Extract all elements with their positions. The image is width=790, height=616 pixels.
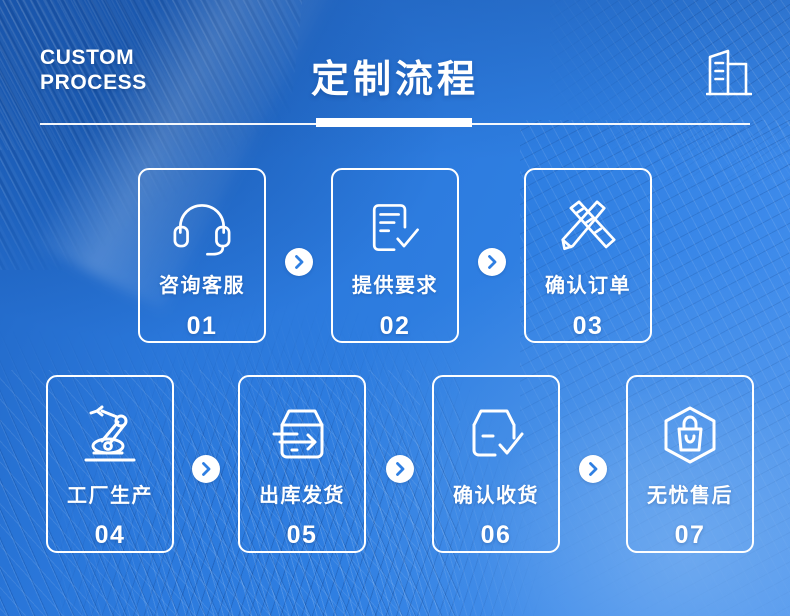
step-card-4[interactable]: 工厂生产 04 xyxy=(46,375,174,553)
connector-arrow-1 xyxy=(285,248,313,276)
step-number-2: 02 xyxy=(380,312,411,341)
step-number-7: 07 xyxy=(675,521,706,550)
process-infographic: CUSTOM PROCESS 定制流程 xyxy=(0,0,790,616)
chevron-right-icon xyxy=(586,462,600,476)
box-arrow-icon xyxy=(270,405,334,465)
chevron-right-icon xyxy=(292,255,306,269)
page-title: 定制流程 xyxy=(0,48,790,103)
connector-arrow-4 xyxy=(386,455,414,483)
step-title-6: 确认收货 xyxy=(453,479,539,508)
ruler-pencil-icon xyxy=(556,200,620,256)
step-card-5[interactable]: 出库发货 05 xyxy=(238,375,366,553)
step-title-7: 无忧售后 xyxy=(647,479,733,508)
connector-arrow-3 xyxy=(192,455,220,483)
building-icon xyxy=(706,48,752,98)
document-check-icon xyxy=(364,200,426,256)
step-number-5: 05 xyxy=(287,521,318,550)
step-card-2[interactable]: 提供要求 02 xyxy=(331,168,459,343)
robot-arm-icon xyxy=(78,405,142,465)
chevron-right-icon xyxy=(199,462,213,476)
step-number-1: 01 xyxy=(187,312,218,341)
step-title-1: 咨询客服 xyxy=(159,269,245,298)
connector-arrow-2 xyxy=(478,248,506,276)
step-card-3[interactable]: 确认订单 03 xyxy=(524,168,652,343)
step-title-3: 确认订单 xyxy=(545,269,631,298)
chevron-right-icon xyxy=(485,255,499,269)
step-card-1[interactable]: 咨询客服 01 xyxy=(138,168,266,343)
step-title-2: 提供要求 xyxy=(352,269,438,298)
step-title-5: 出库发货 xyxy=(259,479,345,508)
header-divider-accent xyxy=(316,118,472,127)
shield-bag-icon xyxy=(659,405,721,465)
step-number-6: 06 xyxy=(481,521,512,550)
step-card-6[interactable]: 确认收货 06 xyxy=(432,375,560,553)
step-number-3: 03 xyxy=(573,312,604,341)
headset-icon xyxy=(168,200,236,256)
step-title-4: 工厂生产 xyxy=(67,479,153,508)
connector-arrow-5 xyxy=(579,455,607,483)
step-number-4: 04 xyxy=(95,521,126,550)
step-card-7[interactable]: 无忧售后 07 xyxy=(626,375,754,553)
box-check-icon xyxy=(464,405,528,465)
header: CUSTOM PROCESS 定制流程 xyxy=(0,0,790,150)
chevron-right-icon xyxy=(393,462,407,476)
